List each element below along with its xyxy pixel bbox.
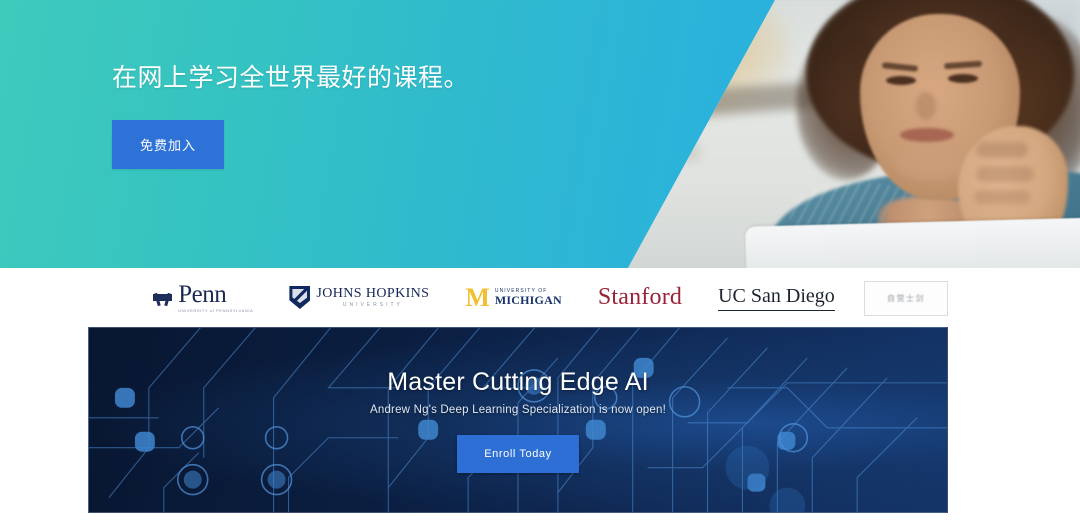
laptop [745, 217, 1080, 268]
ai-banner-title: Master Cutting Edge AI [387, 368, 648, 397]
hero-section: 在网上学习全世界最好的课程。 免费加入 [0, 0, 1080, 268]
johns-hopkins-shield-icon [289, 286, 310, 309]
stanford-wordmark: Stanford [598, 284, 682, 311]
hero-title: 在网上学习全世界最好的课程。 [112, 62, 712, 96]
person-finger-3 [974, 190, 1030, 204]
hero-text-block: 在网上学习全世界最好的课程。 免费加入 [112, 62, 712, 169]
michigan-m-icon: M [465, 286, 489, 309]
ai-banner-subtitle: Andrew Ng's Deep Learning Specialization… [370, 404, 666, 416]
logo-university-of-michigan[interactable]: M UNIVERSITY OF MICHIGAN [465, 286, 561, 309]
join-for-free-button[interactable]: 免费加入 [112, 120, 224, 169]
michigan-wordmark: MICHIGAN [495, 294, 562, 307]
person-finger-2 [976, 166, 1034, 182]
person-nose [916, 92, 936, 120]
person-finger-1 [976, 142, 1028, 158]
person-mouth [900, 128, 954, 142]
logo-johns-hopkins[interactable]: JOHNS HOPKINS UNIVERSITY [289, 286, 429, 309]
enroll-today-button[interactable]: Enroll Today [457, 435, 579, 473]
logo-stanford[interactable]: Stanford [598, 284, 682, 311]
penn-wordmark: Penn [178, 282, 253, 307]
logo-penn[interactable]: Penn UNIVERSITY of PENNSYLVANIA [153, 282, 253, 313]
ai-promo-banner[interactable]: Master Cutting Edge AI Andrew Ng's Deep … [88, 327, 948, 513]
johns-hopkins-subtitle: UNIVERSITY [316, 302, 429, 308]
person-eye-right [948, 74, 978, 83]
johns-hopkins-wordmark: JOHNS HOPKINS [316, 287, 429, 302]
logo-uc-san-diego[interactable]: UC San Diego [718, 285, 835, 311]
overlay-badge[interactable]: 自营士剑 [864, 281, 948, 316]
person-chin [896, 150, 966, 180]
ai-banner-content: Master Cutting Edge AI Andrew Ng's Deep … [89, 328, 947, 512]
overlay-badge-label: 自营士剑 [887, 293, 925, 304]
ucsd-wordmark: UC San Diego [718, 285, 835, 311]
penn-shield-icon [153, 287, 172, 308]
penn-subtitle: UNIVERSITY of PENNSYLVANIA [178, 308, 253, 313]
coursera-landing-page: 在网上学习全世界最好的课程。 免费加入 Penn UNIVERSITY of P… [0, 0, 1080, 520]
person-eye-left [886, 76, 916, 85]
